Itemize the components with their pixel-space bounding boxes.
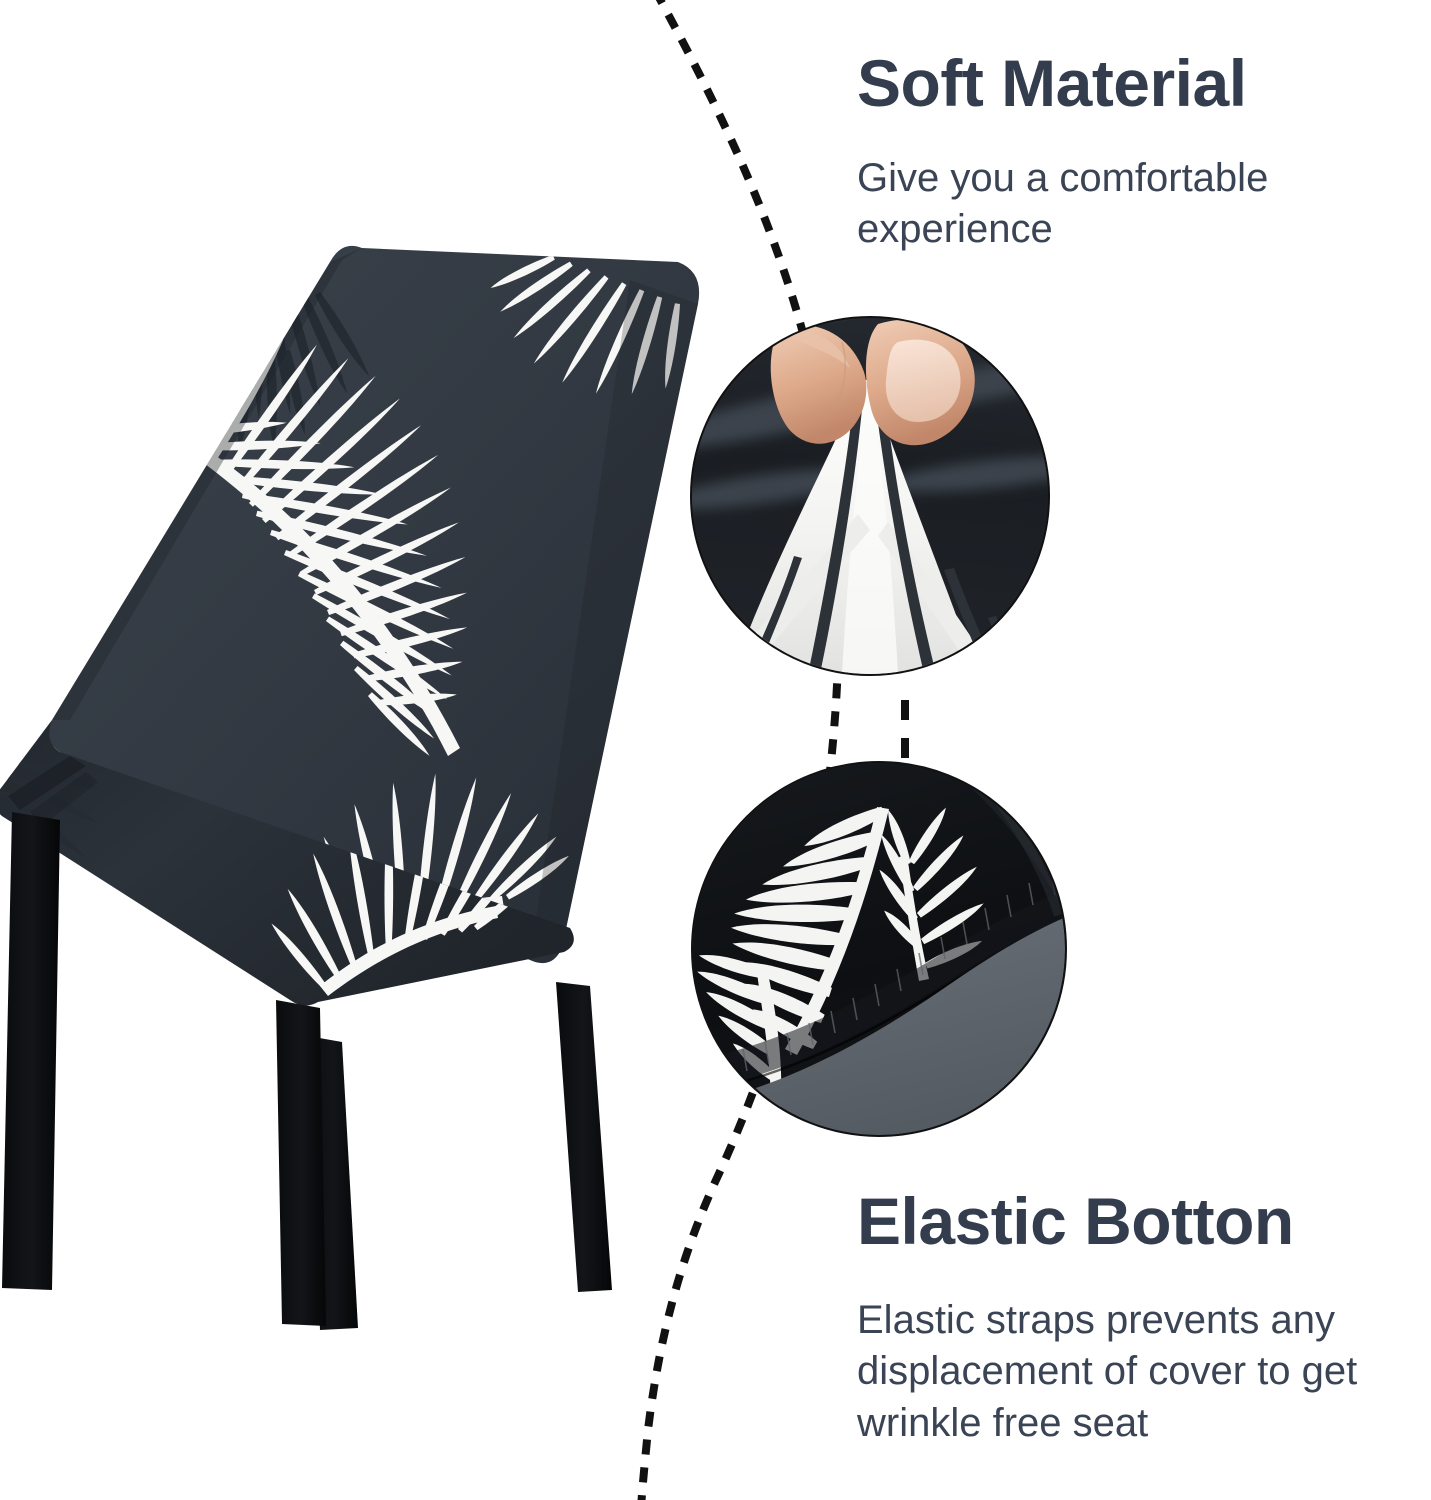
- chair-legs-rear: [308, 982, 612, 1330]
- soft-material-headline: Soft Material: [857, 48, 1417, 119]
- chair-product-photo: [0, 200, 750, 1380]
- elastic-hem-graphic: [693, 763, 1065, 1135]
- soft-material-photo-content: [692, 318, 1048, 674]
- elastic-botton-photo-circle: [691, 761, 1067, 1137]
- chair-illustration: [0, 200, 750, 1380]
- elastic-botton-photo-content: [693, 763, 1065, 1135]
- stretched-fabric-graphic: [692, 318, 1048, 674]
- soft-material-subtext: Give you a comfortable experience: [857, 153, 1377, 255]
- elastic-botton-headline: Elastic Botton: [857, 1186, 1431, 1257]
- soft-material-text-block: Soft Material Give you a comfortable exp…: [857, 48, 1417, 256]
- elastic-botton-subtext: Elastic straps prevents any displacement…: [857, 1295, 1431, 1449]
- infographic-canvas: Soft Material Give you a comfortable exp…: [0, 0, 1431, 1500]
- elastic-botton-text-block: Elastic Botton Elastic straps prevents a…: [857, 1186, 1431, 1449]
- soft-material-photo-circle: [690, 316, 1050, 676]
